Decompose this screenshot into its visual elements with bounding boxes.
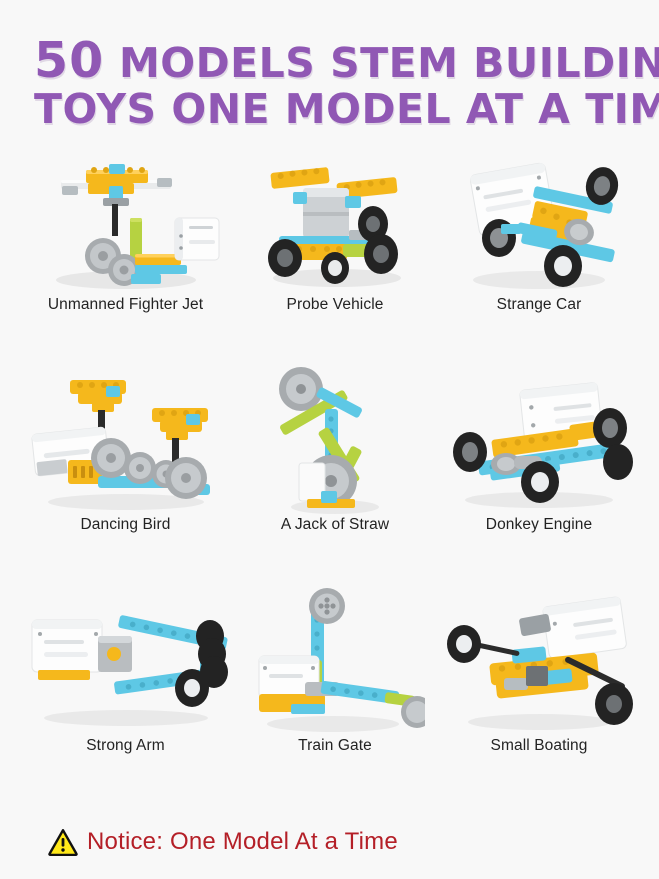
notice-text: Notice: One Model At a Time xyxy=(87,828,398,856)
model-caption: Strong Arm xyxy=(86,737,165,755)
model-photo-small-boating xyxy=(437,585,641,735)
models-grid: Unmanned Fighter Jet xyxy=(0,138,659,805)
model-photo-train-gate xyxy=(233,585,437,735)
model-caption: Dancing Bird xyxy=(81,516,171,534)
model-card[interactable]: Strange Car xyxy=(437,144,641,364)
model-photo-donkey-engine xyxy=(437,364,641,514)
model-caption: Donkey Engine xyxy=(486,516,592,534)
model-caption: Strange Car xyxy=(497,296,582,314)
model-card[interactable]: Dancing Bird xyxy=(18,364,233,584)
model-caption: Unmanned Fighter Jet xyxy=(48,296,203,314)
model-photo-probe xyxy=(233,144,437,294)
model-photo-strong-arm xyxy=(18,585,233,735)
model-card[interactable]: Small Boating xyxy=(437,585,641,805)
page-title: 50 Models STEM Building Toys One Model A… xyxy=(0,0,659,138)
model-caption: Train Gate xyxy=(298,737,372,755)
model-card[interactable]: Unmanned Fighter Jet xyxy=(18,144,233,364)
model-photo-jet xyxy=(18,144,233,294)
model-card[interactable]: Donkey Engine xyxy=(437,364,641,584)
model-card[interactable]: Probe Vehicle xyxy=(233,144,437,364)
model-photo-strange-car xyxy=(437,144,641,294)
title-line-1-rest: Models STEM Building xyxy=(119,39,659,87)
title-count: 50 xyxy=(34,32,104,89)
title-line-1: 50 Models STEM Building xyxy=(34,38,625,86)
model-card[interactable]: Strong Arm xyxy=(18,585,233,805)
notice-bar: Notice: One Model At a Time xyxy=(0,805,659,879)
model-photo-dancing-bird xyxy=(18,364,233,514)
product-infographic: 50 Models STEM Building Toys One Model A… xyxy=(0,0,659,879)
model-caption: Small Boating xyxy=(491,737,588,755)
model-caption: Probe Vehicle xyxy=(287,296,384,314)
model-photo-jack-of-straw xyxy=(233,364,437,514)
model-caption: A Jack of Straw xyxy=(281,516,389,534)
model-card[interactable]: Train Gate xyxy=(233,585,437,805)
title-line-2: Toys One Model At a Time xyxy=(34,86,625,132)
warning-triangle-icon xyxy=(48,828,78,856)
model-card[interactable]: A Jack of Straw xyxy=(233,364,437,584)
